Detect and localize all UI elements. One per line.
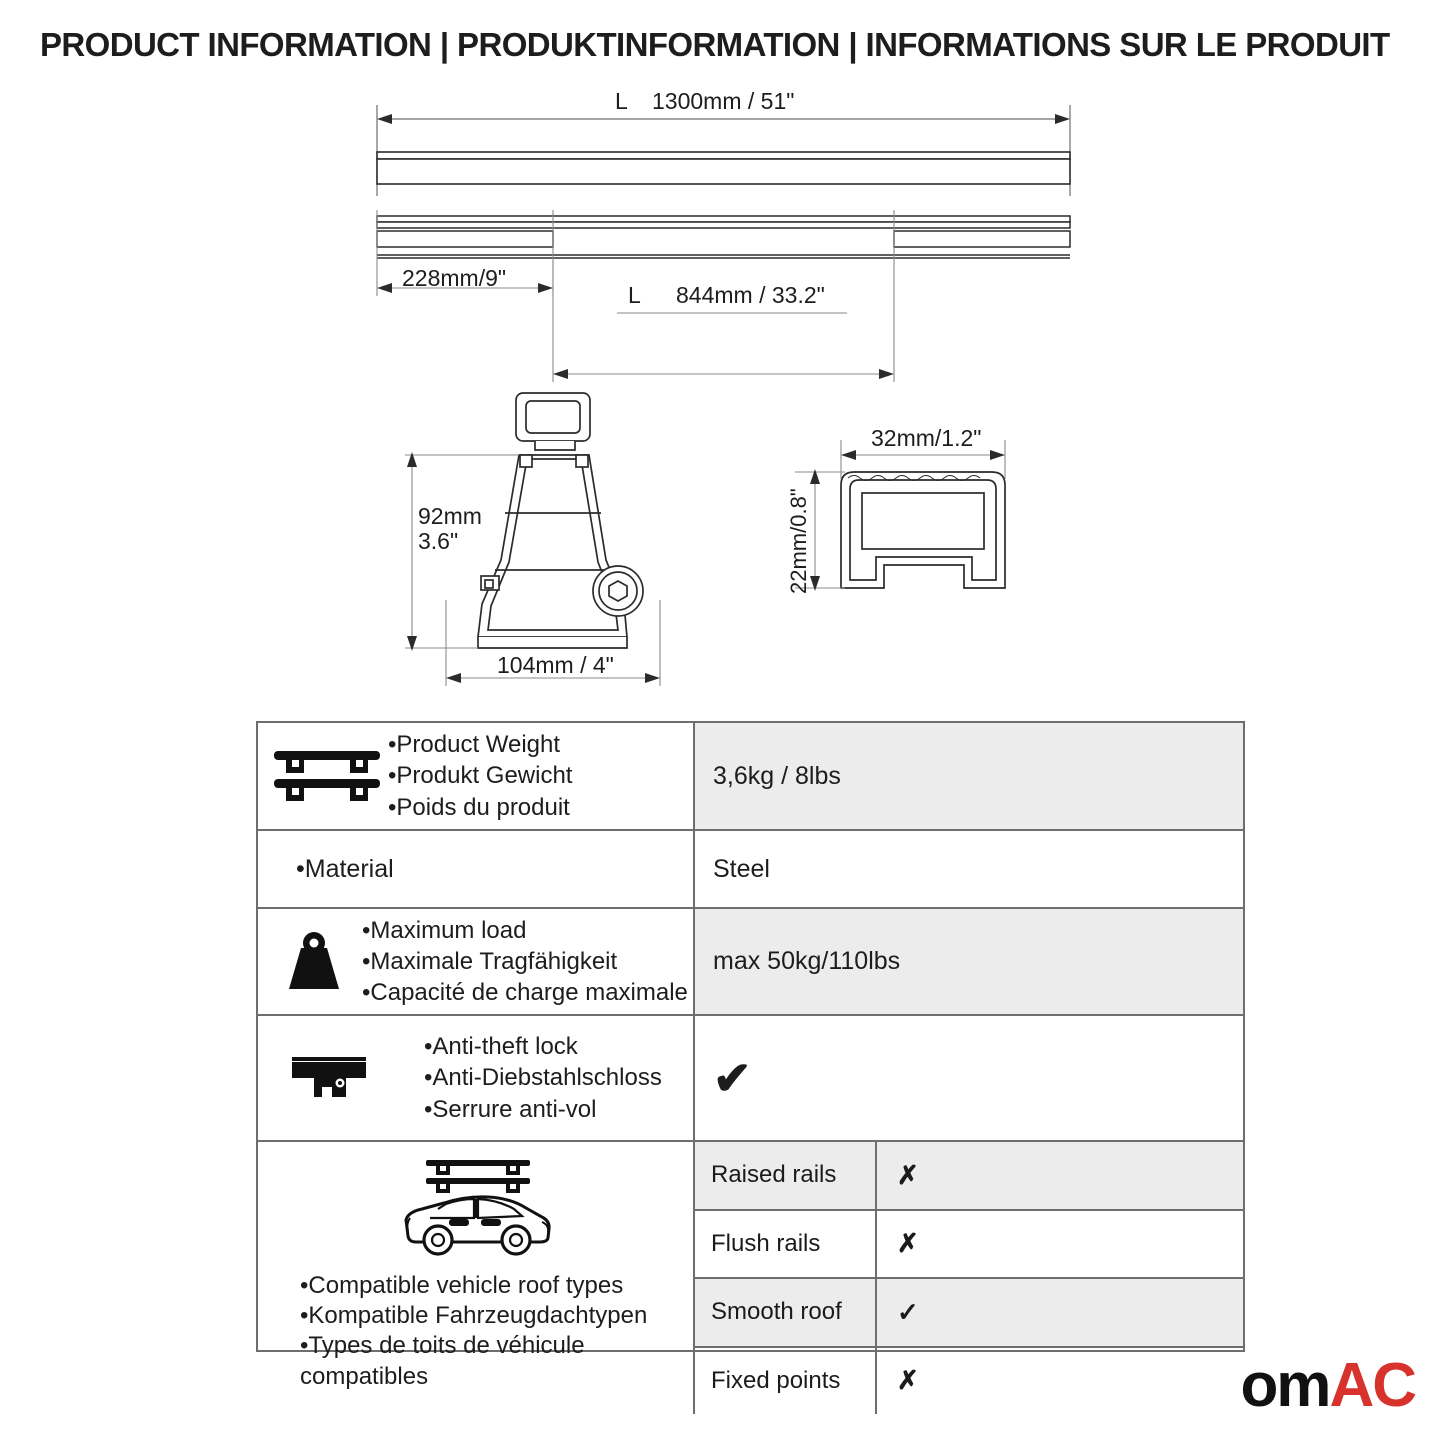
table-row: •Product Weight •Produkt Gewicht •Poids … — [258, 723, 1243, 831]
dim-profile-width: 32mm/1.2" — [871, 425, 981, 452]
label-line: •Product Weight — [388, 729, 572, 760]
dim-end-offset: 228mm/9" — [402, 265, 506, 292]
crossbars-icon — [266, 745, 388, 807]
roof-type-mark: ✗ — [877, 1348, 1243, 1415]
roof-type-flush-rails: Flush rails ✗ — [695, 1211, 1243, 1280]
label-line: •Produkt Gewicht — [388, 760, 572, 791]
roof-type-label: Flush rails — [695, 1211, 877, 1278]
label-line: •Material — [296, 853, 394, 886]
row-labels: •Anti-theft lock •Anti-Diebstahlschloss … — [390, 1031, 662, 1125]
roof-type-smooth-roof: Smooth roof ✓ — [695, 1279, 1243, 1348]
label-line: •Serrure anti-vol — [424, 1094, 662, 1125]
dim-foot-height-mm: 92mm — [418, 503, 482, 530]
dim-span-prefix: L — [628, 282, 641, 309]
label-line: •Poids du produit — [388, 792, 572, 823]
roof-label-cell: •Compatible vehicle roof types •Kompatib… — [258, 1142, 695, 1414]
roof-type-mark: ✗ — [877, 1211, 1243, 1278]
roof-labels: •Compatible vehicle roof types •Kompatib… — [258, 1271, 675, 1392]
roof-type-label: Fixed points — [695, 1348, 877, 1415]
roof-type-label: Smooth roof — [695, 1279, 877, 1346]
row-label-cell: •Maximum load •Maximale Tragfähigkeit •C… — [258, 909, 695, 1014]
table-row-roof-compatibility: •Compatible vehicle roof types •Kompatib… — [258, 1142, 1243, 1414]
lock-icon — [268, 1053, 390, 1103]
label-line: •Compatible vehicle roof types — [300, 1271, 675, 1301]
dim-profile-height: 22mm/0.8" — [786, 488, 812, 594]
label-line: •Maximale Tragfähigkeit — [362, 946, 688, 977]
product-information-sheet: PRODUCT INFORMATION | PRODUKTINFORMATION… — [0, 0, 1445, 1445]
page-title: PRODUCT INFORMATION | PRODUKTINFORMATION… — [40, 26, 1410, 64]
table-row: •Anti-theft lock •Anti-Diebstahlschloss … — [258, 1016, 1243, 1142]
table-row: •Maximum load •Maximale Tragfähigkeit •C… — [258, 909, 1243, 1016]
row-label-cell: •Anti-theft lock •Anti-Diebstahlschloss … — [258, 1016, 695, 1140]
label-line: •Maximum load — [362, 915, 688, 946]
car-with-rack-icon — [392, 1154, 560, 1265]
specifications-table: •Product Weight •Produkt Gewicht •Poids … — [256, 721, 1245, 1352]
roof-type-list: Raised rails ✗ Flush rails ✗ Smooth roof… — [695, 1142, 1243, 1414]
row-value: max 50kg/110lbs — [695, 909, 1243, 1014]
row-labels: •Maximum load •Maximale Tragfähigkeit •C… — [362, 915, 688, 1009]
row-value: Steel — [695, 831, 1243, 907]
logo-text-dark: om — [1240, 1351, 1329, 1420]
row-value: 3,6kg / 8lbs — [695, 723, 1243, 829]
weight-icon — [266, 931, 362, 993]
row-labels: •Product Weight •Produkt Gewicht •Poids … — [388, 729, 572, 823]
dim-bar-length-prefix: L — [615, 88, 628, 115]
row-labels: •Material — [296, 853, 394, 886]
row-value: ✔ — [695, 1016, 1243, 1140]
omac-logo: omAC — [1240, 1355, 1415, 1417]
dim-bar-length-value: 1300mm / 51" — [652, 88, 794, 115]
roof-type-mark: ✗ — [877, 1142, 1243, 1209]
row-label-cell: •Material — [258, 831, 695, 907]
row-label-cell: •Product Weight •Produkt Gewicht •Poids … — [258, 723, 695, 829]
dim-span-value: 844mm / 33.2" — [676, 282, 825, 309]
roof-type-label: Raised rails — [695, 1142, 877, 1209]
roof-type-fixed-points: Fixed points ✗ — [695, 1348, 1243, 1415]
label-line: •Capacité de charge maximale — [362, 977, 688, 1008]
label-line: •Types de toits de véhicule compatibles — [300, 1331, 675, 1391]
roof-type-mark: ✓ — [877, 1279, 1243, 1346]
logo-text-accent: AC — [1329, 1351, 1415, 1420]
dim-foot-height-in: 3.6" — [418, 528, 458, 555]
roof-type-raised-rails: Raised rails ✗ — [695, 1142, 1243, 1211]
label-line: •Kompatible Fahrzeugdachtypen — [300, 1301, 675, 1331]
checkmark-icon: ✔ — [713, 1055, 752, 1101]
label-line: •Anti-Diebstahlschloss — [424, 1062, 662, 1093]
table-row: •Material Steel — [258, 831, 1243, 909]
dim-foot-width: 104mm / 4" — [497, 652, 614, 679]
label-line: •Anti-theft lock — [424, 1031, 662, 1062]
